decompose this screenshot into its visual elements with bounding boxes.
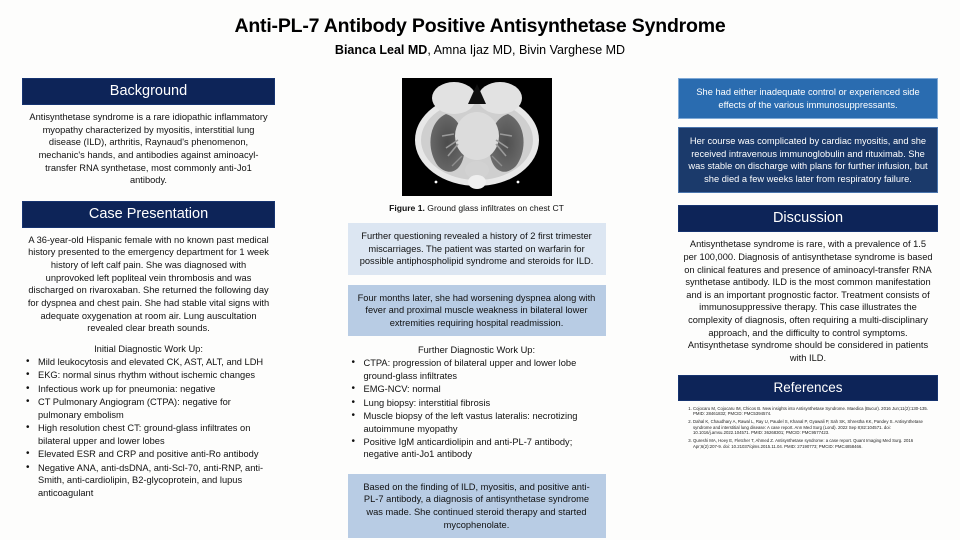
author-list: Bianca Leal MD, Amna Ijaz MD, Bivin Varg… xyxy=(0,43,960,58)
list-item: Mild leukocytosis and elevated CK, AST, … xyxy=(36,356,275,368)
right-column: She had either inadequate control or exp… xyxy=(678,78,938,540)
references-list: Cojocaru M, Cojocaru IM, Chicos B. New i… xyxy=(678,406,938,450)
case-presentation-text: A 36-year-old Hispanic female with no kn… xyxy=(22,228,275,335)
figure-caption: Figure 1. Ground glass infiltrates on ch… xyxy=(348,203,606,213)
list-item: Positive IgM anticardiolipin and anti-PL… xyxy=(362,436,606,461)
figure-caption-label: Figure 1. xyxy=(389,203,425,213)
list-item: High resolution chest CT: ground-glass i… xyxy=(36,422,275,447)
reference-item: Cojocaru M, Cojocaru IM, Chicos B. New i… xyxy=(693,406,936,417)
callout-four-months-later: Four months later, she had worsening dys… xyxy=(348,285,606,337)
list-item: EKG: normal sinus rhythm without ischemi… xyxy=(36,369,275,381)
figure-caption-text: Ground glass infiltrates on chest CT xyxy=(425,203,564,213)
callout-immunosuppressant-control: She had either inadequate control or exp… xyxy=(678,78,938,119)
background-text: Antisynthetase syndrome is a rare idiopa… xyxy=(22,105,275,187)
reference-item: Qureshi MA, Hoey E, Fletcher T, Ahmed Z.… xyxy=(693,438,936,449)
author-lead: Bianca Leal MD xyxy=(335,43,427,57)
callout-further-questioning: Further questioning revealed a history o… xyxy=(348,223,606,275)
further-workup-list: CTPA: progression of bilateral upper and… xyxy=(348,357,606,461)
initial-workup-heading: Initial Diagnostic Work Up: xyxy=(22,344,275,354)
section-header-discussion: Discussion xyxy=(678,205,938,232)
initial-workup-list: Mild leukocytosis and elevated CK, AST, … xyxy=(22,356,275,499)
left-column: Background Antisynthetase syndrome is a … xyxy=(22,78,275,540)
reference-item: Dahal K, Chaudhary A, Rawal L, Ray U, Pa… xyxy=(693,419,936,436)
list-item: Lung biopsy: interstitial fibrosis xyxy=(362,397,606,409)
poster-columns: Background Antisynthetase syndrome is a … xyxy=(0,78,960,540)
list-item: Elevated ESR and CRP and positive anti-R… xyxy=(36,448,275,460)
list-item: EMG-NCV: normal xyxy=(362,383,606,395)
discussion-text: Antisynthetase syndrome is rare, with a … xyxy=(678,232,938,364)
chest-ct-image xyxy=(402,78,552,196)
list-item: CT Pulmonary Angiogram (CTPA): negative … xyxy=(36,396,275,421)
section-header-background: Background xyxy=(22,78,275,105)
section-header-case-presentation: Case Presentation xyxy=(22,201,275,228)
poster-header: Anti-PL-7 Antibody Positive Antisyntheta… xyxy=(0,0,960,58)
list-item: Negative ANA, anti-dsDNA, anti-Scl-70, a… xyxy=(36,462,275,499)
further-workup-heading: Further Diagnostic Work Up: xyxy=(348,345,606,355)
list-item: Muscle biopsy of the left vastus lateral… xyxy=(362,410,606,435)
center-column: Figure 1. Ground glass infiltrates on ch… xyxy=(348,78,606,540)
poster-canvas: Anti-PL-7 Antibody Positive Antisyntheta… xyxy=(0,0,960,540)
callout-diagnosis-summary: Based on the finding of ILD, myositis, a… xyxy=(348,474,606,538)
list-item: Infectious work up for pneumonia: negati… xyxy=(36,383,275,395)
section-header-references: References xyxy=(678,375,938,401)
chest-ct-axial-scan xyxy=(402,78,552,196)
list-item: CTPA: progression of bilateral upper and… xyxy=(362,357,606,382)
page-title: Anti-PL-7 Antibody Positive Antisyntheta… xyxy=(0,16,960,37)
figure-1: Figure 1. Ground glass infiltrates on ch… xyxy=(348,78,606,213)
author-others: , Amna Ijaz MD, Bivin Varghese MD xyxy=(427,43,625,57)
callout-clinical-course: Her course was complicated by cardiac my… xyxy=(678,127,938,193)
